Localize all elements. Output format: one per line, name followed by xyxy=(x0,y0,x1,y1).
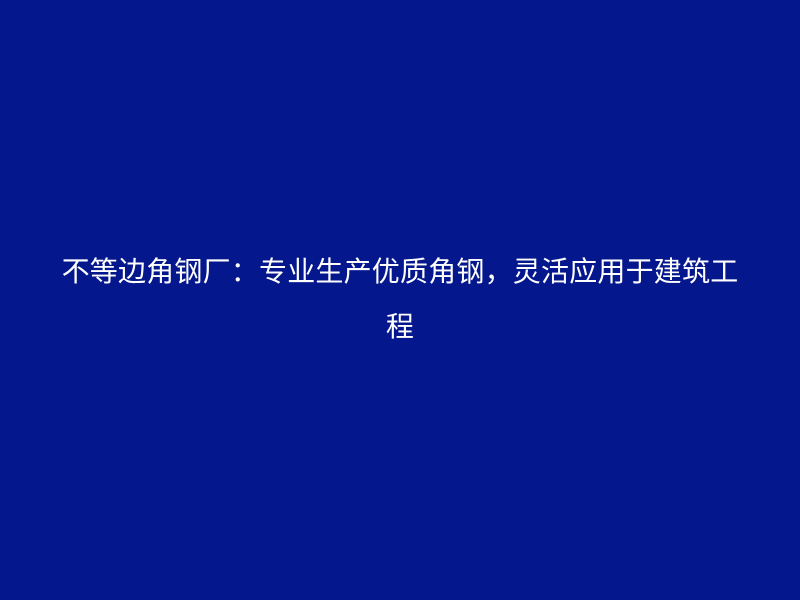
page-title: 不等边角钢厂：专业生产优质角钢，灵活应用于建筑工程 xyxy=(50,244,750,354)
banner-canvas: 不等边角钢厂：专业生产优质角钢，灵活应用于建筑工程 xyxy=(0,0,800,600)
headline-block: 不等边角钢厂：专业生产优质角钢，灵活应用于建筑工程 xyxy=(50,244,750,354)
